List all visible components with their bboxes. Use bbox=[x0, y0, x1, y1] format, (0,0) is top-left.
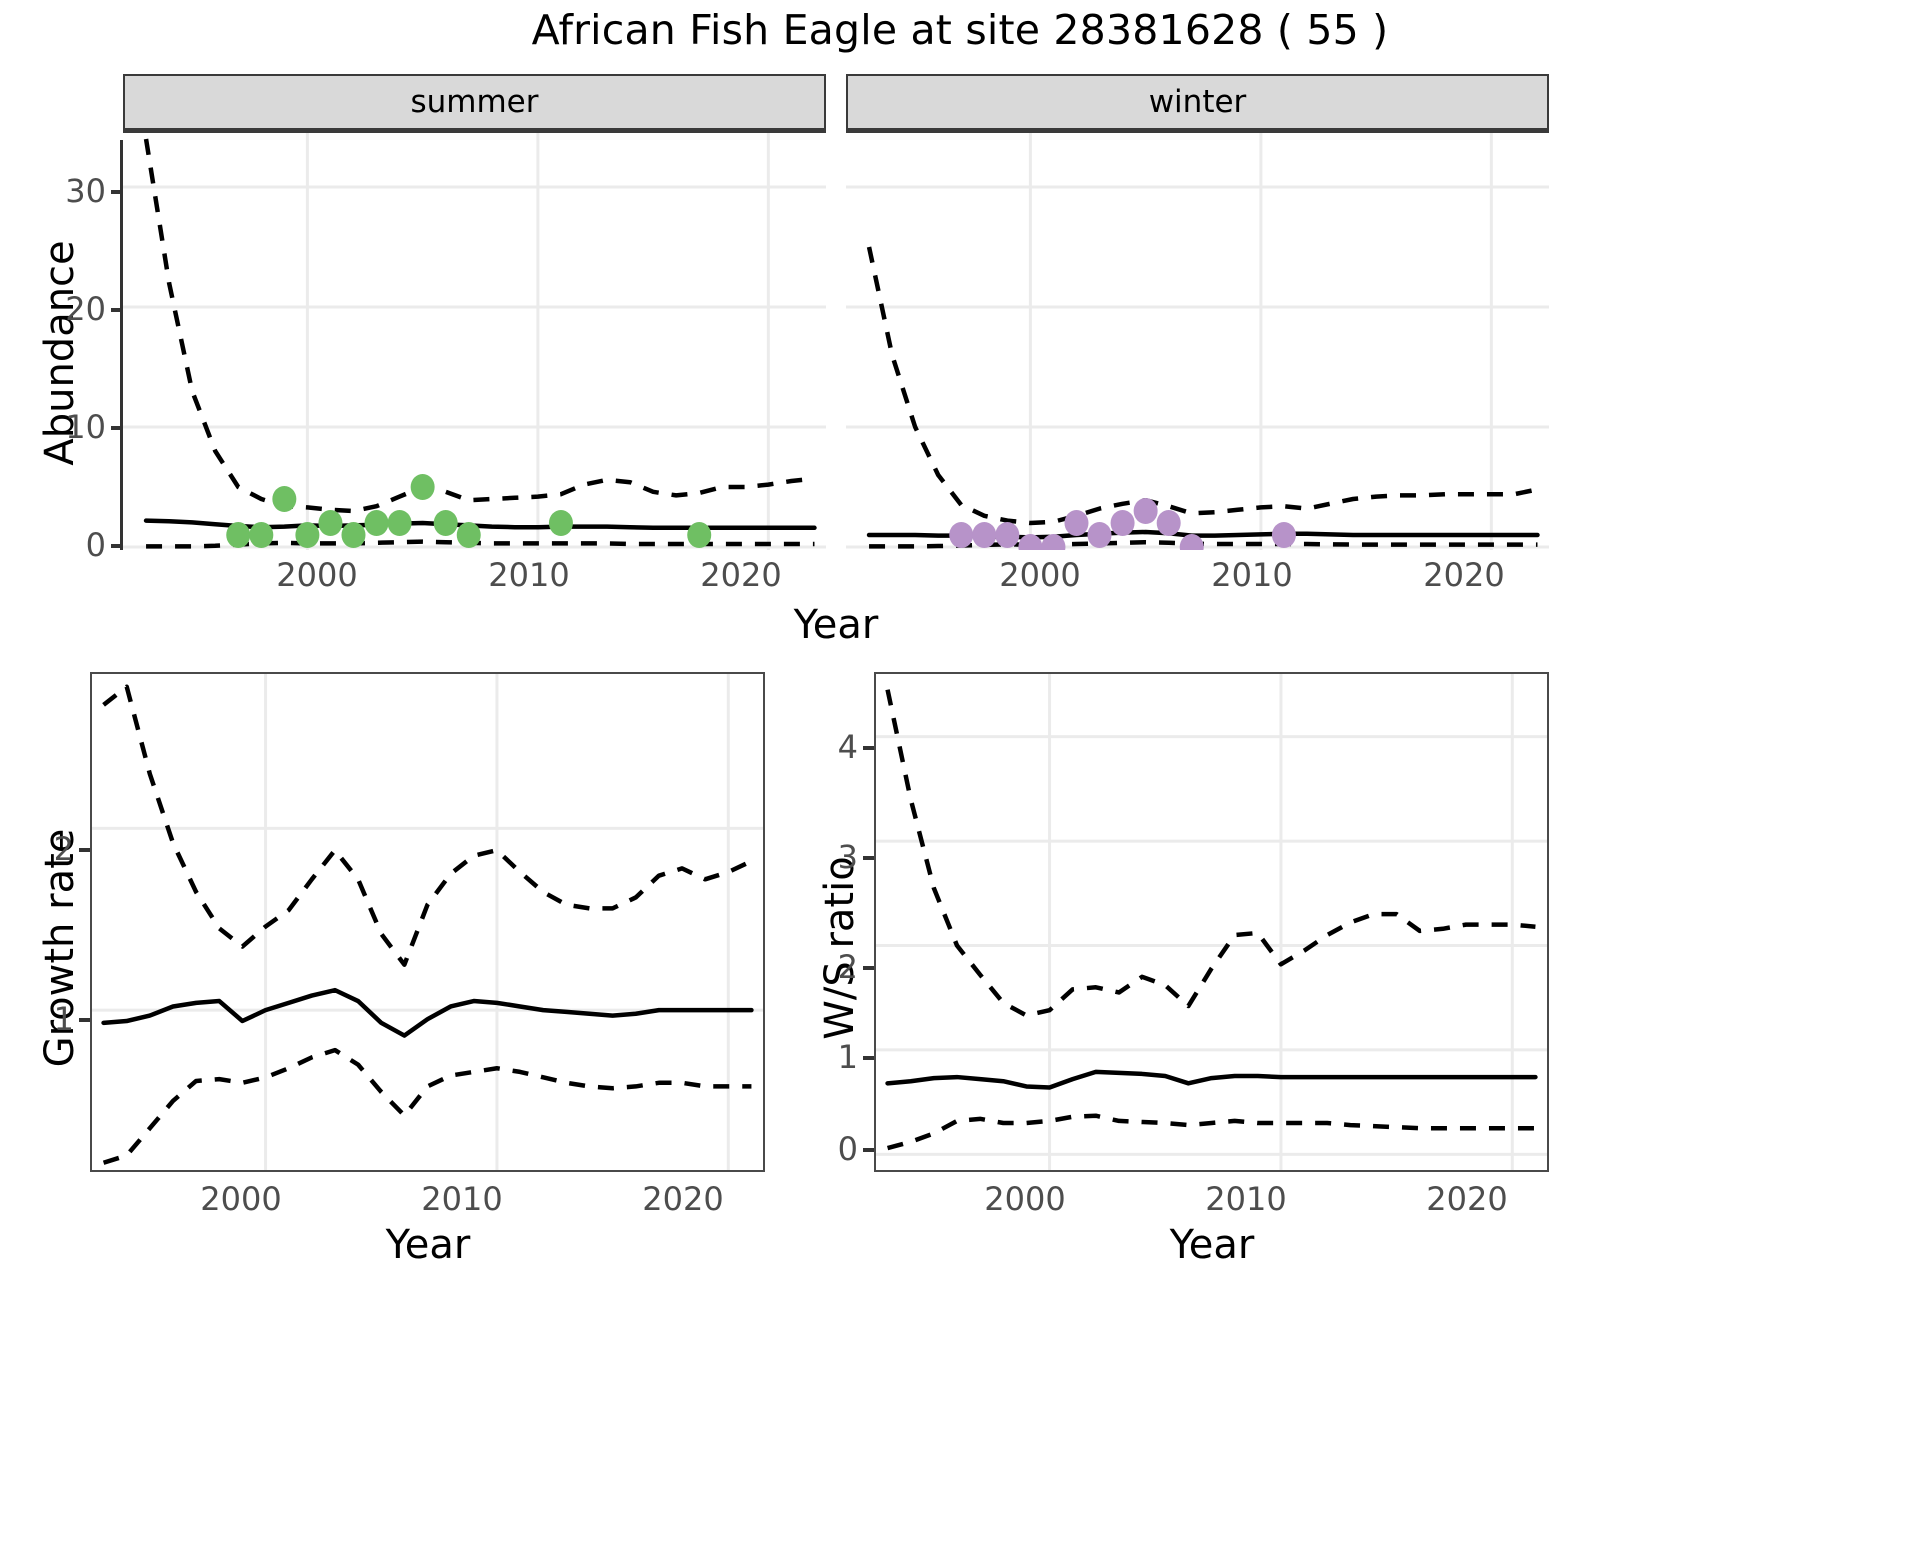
growth-ytick-1: 1 bbox=[28, 1000, 74, 1038]
panel-strip-winter: winter bbox=[846, 74, 1549, 130]
abundance-ytick-30: 30 bbox=[38, 172, 106, 210]
ratio-xtick-2010: 2010 bbox=[1181, 1180, 1311, 1218]
panel-abundance-winter bbox=[846, 130, 1549, 550]
ratio-x-axis-label: Year bbox=[1012, 1222, 1412, 1268]
growth-x-axis-label: Year bbox=[228, 1222, 628, 1268]
ratio-ytick-2: 2 bbox=[812, 948, 858, 986]
growth-xtick-2020: 2020 bbox=[618, 1180, 748, 1218]
ratio-xtick-2000: 2000 bbox=[960, 1180, 1090, 1218]
abundance-winter-xtick-2000: 2000 bbox=[975, 556, 1105, 594]
abundance-summer-xtick-2010: 2010 bbox=[464, 556, 594, 594]
ratio-ytick-3: 3 bbox=[812, 838, 858, 876]
ratio-ytick-4: 4 bbox=[812, 728, 858, 766]
ratio-xtick-2020: 2020 bbox=[1402, 1180, 1532, 1218]
growth-rate-plot-area bbox=[92, 674, 763, 1170]
abundance-winter-xtick-2020: 2020 bbox=[1399, 556, 1529, 594]
panel-ws-ratio bbox=[874, 672, 1549, 1172]
abundance-ytick-10: 10 bbox=[38, 408, 106, 446]
ratio-ytick-1: 1 bbox=[812, 1038, 858, 1076]
abundance-winter-xtick-2010: 2010 bbox=[1187, 556, 1317, 594]
growth-xtick-2010: 2010 bbox=[397, 1180, 527, 1218]
abundance-ytick-0: 0 bbox=[38, 526, 106, 564]
panel-strip-winter-label: winter bbox=[1149, 84, 1247, 120]
ws-ratio-plot-area bbox=[876, 674, 1547, 1170]
panel-abundance-summer bbox=[123, 130, 826, 550]
panel-strip-summer-label: summer bbox=[410, 84, 538, 120]
growth-xtick-2000: 2000 bbox=[176, 1180, 306, 1218]
abundance-winter-plot-area bbox=[846, 133, 1549, 550]
growth-ytick-2: 2 bbox=[28, 830, 74, 868]
abundance-ytick-20: 20 bbox=[38, 290, 106, 328]
abundance-x-axis-label: Year bbox=[636, 602, 1036, 648]
abundance-summer-xtick-2000: 2000 bbox=[252, 556, 382, 594]
abundance-summer-xtick-2020: 2020 bbox=[676, 556, 806, 594]
abundance-summer-plot-area bbox=[123, 133, 826, 550]
figure-root: African Fish Eagle at site 28381628 ( 55… bbox=[0, 0, 1920, 1560]
figure-title: African Fish Eagle at site 28381628 ( 55… bbox=[0, 6, 1920, 54]
ratio-ytick-0: 0 bbox=[812, 1130, 858, 1168]
panel-growth-rate bbox=[90, 672, 765, 1172]
panel-strip-summer: summer bbox=[123, 74, 826, 130]
